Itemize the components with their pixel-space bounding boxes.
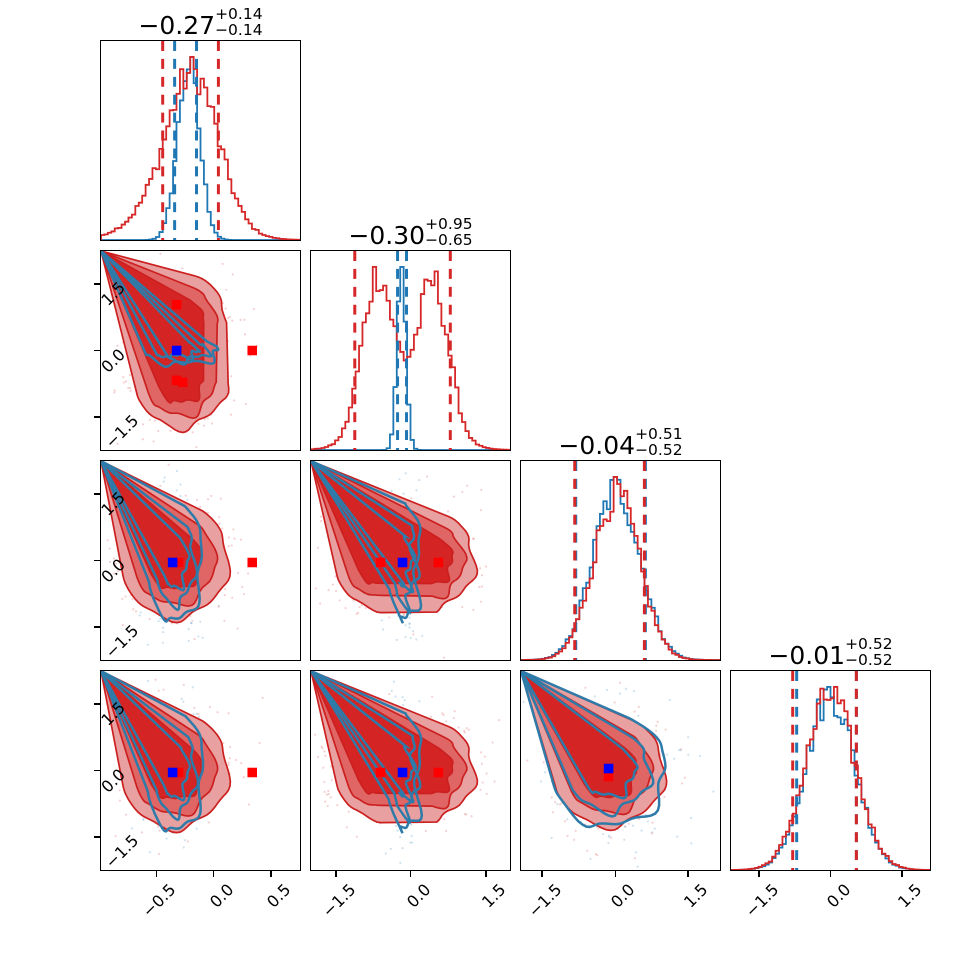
contour-panel-r3c1 bbox=[310, 670, 511, 871]
x-tick-label: −1.5 bbox=[525, 880, 566, 921]
y-tickmark bbox=[94, 493, 100, 494]
x-tickmark bbox=[615, 871, 616, 877]
x-tick-label: 1.5 bbox=[680, 880, 711, 911]
x-tickmark bbox=[687, 871, 688, 877]
x-tick-label: 0.0 bbox=[607, 880, 638, 911]
panel-title-errors: +0.51−0.52 bbox=[635, 427, 683, 459]
hist-panel-3 bbox=[730, 670, 931, 871]
y-tickmark bbox=[94, 703, 100, 704]
panel-title-err-dn: −0.52 bbox=[635, 443, 683, 459]
hist-panel-2 bbox=[520, 460, 721, 661]
x-tick-label: 0.0 bbox=[206, 880, 237, 911]
y-tickmark bbox=[94, 770, 100, 771]
panel-title-0: −0.27+0.14−0.14 bbox=[100, 7, 301, 39]
corner-plot-figure: −0.27+0.14−0.14−0.30+0.95−0.65−0.04+0.51… bbox=[0, 0, 970, 970]
x-tick-label: 1.5 bbox=[478, 880, 509, 911]
panel-title-err-dn: −0.14 bbox=[215, 23, 263, 39]
x-tickmark bbox=[410, 871, 411, 877]
hist-panel-0 bbox=[100, 40, 301, 241]
contour-panel-r2c1 bbox=[310, 460, 511, 661]
x-tickmark bbox=[758, 871, 759, 877]
x-tickmark bbox=[270, 871, 271, 877]
panel-title-errors: +0.95−0.65 bbox=[425, 217, 473, 249]
x-tick-label: −1.5 bbox=[742, 880, 783, 921]
panel-title-err-dn: −0.52 bbox=[845, 653, 893, 669]
x-tick-label: −0.5 bbox=[139, 880, 180, 921]
x-tick-label: 0.5 bbox=[263, 880, 294, 911]
y-tickmark bbox=[94, 416, 100, 417]
x-tick-label: 0.0 bbox=[823, 880, 854, 911]
x-tick-label: −1.5 bbox=[319, 880, 360, 921]
panel-title-3: −0.01+0.52−0.52 bbox=[730, 637, 931, 669]
x-tick-label: 1.5 bbox=[894, 880, 925, 911]
y-tickmark bbox=[94, 283, 100, 284]
x-tickmark bbox=[485, 871, 486, 877]
x-tickmark bbox=[541, 871, 542, 877]
panel-title-median: −0.27 bbox=[138, 11, 215, 40]
panel-title-2: −0.04+0.51−0.52 bbox=[520, 427, 721, 459]
x-tick-label: 0.0 bbox=[403, 880, 434, 911]
panel-title-median: −0.04 bbox=[558, 431, 635, 460]
x-tickmark bbox=[335, 871, 336, 877]
x-tickmark bbox=[213, 871, 214, 877]
y-tickmark bbox=[94, 626, 100, 627]
panel-title-1: −0.30+0.95−0.65 bbox=[310, 217, 511, 249]
panel-title-errors: +0.52−0.52 bbox=[845, 637, 893, 669]
panel-title-errors: +0.14−0.14 bbox=[215, 7, 263, 39]
panel-title-median: −0.30 bbox=[348, 221, 425, 250]
panel-title-median: −0.01 bbox=[768, 641, 845, 670]
panel-title-err-dn: −0.65 bbox=[425, 233, 473, 249]
contour-panel-r3c2 bbox=[520, 670, 721, 871]
x-tickmark bbox=[156, 871, 157, 877]
x-tickmark bbox=[830, 871, 831, 877]
y-tickmark bbox=[94, 350, 100, 351]
hist-panel-1 bbox=[310, 250, 511, 451]
y-tickmark bbox=[94, 560, 100, 561]
x-tickmark bbox=[901, 871, 902, 877]
y-tickmark bbox=[94, 836, 100, 837]
